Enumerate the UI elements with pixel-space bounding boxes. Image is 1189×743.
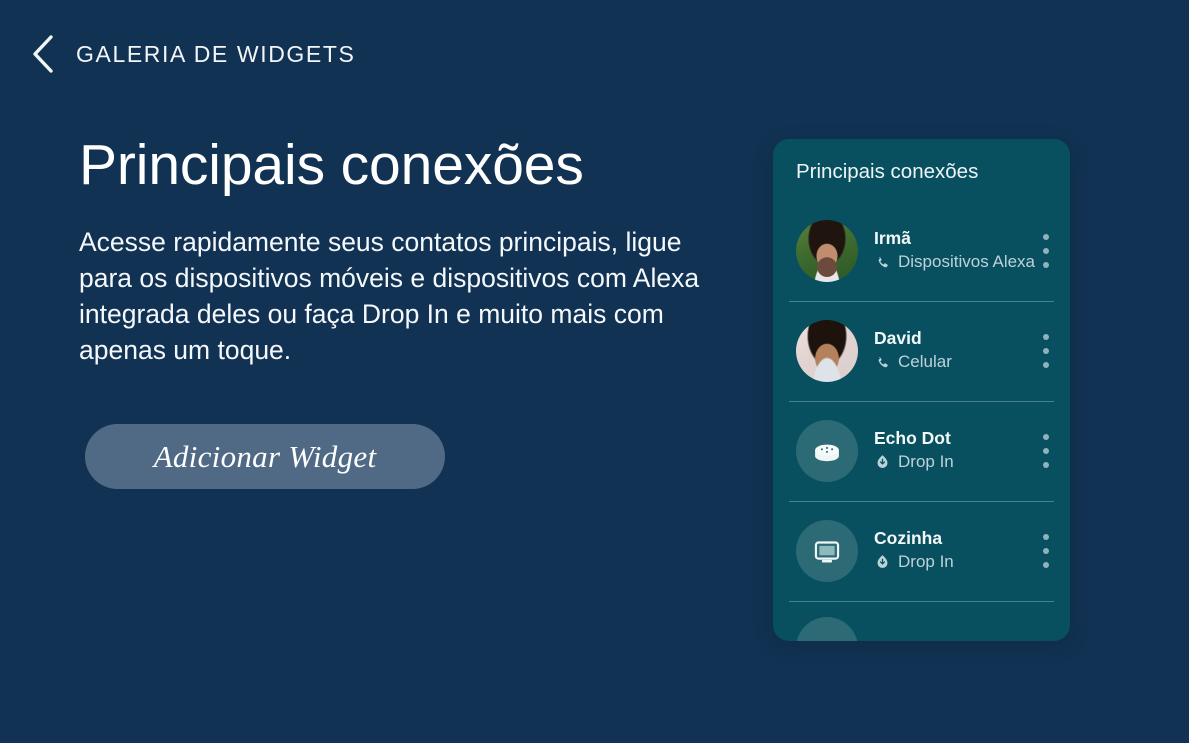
- echo-dot-icon: [796, 420, 858, 482]
- display-device-icon: [796, 520, 858, 582]
- top-bar: GALERIA DE WIDGETS: [0, 0, 1189, 108]
- contact-list: Irmã Dispositivos Alexa D: [773, 201, 1070, 641]
- list-item[interactable]: Echo Dot Drop In: [773, 401, 1070, 501]
- contact-name: David: [874, 328, 1036, 350]
- list-item[interactable]: David Celular: [773, 301, 1070, 401]
- intro-content: Principais conexões Acesse rapidamente s…: [79, 136, 739, 368]
- contact-subtitle-label: Celular: [898, 351, 952, 373]
- list-item[interactable]: [773, 601, 1070, 641]
- contact-name: Echo Dot: [874, 428, 1036, 450]
- contact-subtitle: Drop In: [874, 451, 1036, 473]
- drop-in-icon: [874, 452, 891, 472]
- widget-preview-card: Principais conexões Irmã Dispositivos Al…: [773, 139, 1070, 641]
- contact-subtitle: Dispositivos Alexa: [874, 251, 1036, 273]
- drop-in-icon: [874, 552, 891, 572]
- kebab-menu-icon[interactable]: [1036, 327, 1056, 375]
- widget-card-title: Principais conexões: [773, 139, 1070, 185]
- widget-gallery-screen: GALERIA DE WIDGETS Principais conexões A…: [0, 0, 1189, 743]
- kebab-menu-icon[interactable]: [1036, 427, 1056, 475]
- avatar: [796, 320, 858, 382]
- list-item[interactable]: Irmã Dispositivos Alexa: [773, 201, 1070, 301]
- kebab-menu-icon[interactable]: [1036, 227, 1056, 275]
- avatar: [796, 220, 858, 282]
- add-widget-button[interactable]: Adicionar Widget: [85, 424, 445, 489]
- phone-icon: [874, 252, 891, 272]
- page-title: GALERIA DE WIDGETS: [76, 41, 355, 68]
- contact-subtitle: Drop In: [874, 551, 1036, 573]
- chevron-left-icon[interactable]: [28, 32, 58, 76]
- contact-subtitle-label: Drop In: [898, 551, 954, 573]
- headline: Principais conexões: [79, 136, 739, 196]
- contact-subtitle-label: Drop In: [898, 451, 954, 473]
- description-text: Acesse rapidamente seus contatos princip…: [79, 224, 729, 368]
- list-item-text: Echo Dot Drop In: [858, 428, 1036, 474]
- list-item-text: Cozinha Drop In: [858, 528, 1036, 574]
- phone-icon: [874, 352, 891, 372]
- add-widget-button-label: Adicionar Widget: [154, 439, 377, 475]
- avatar: [796, 617, 858, 641]
- kebab-menu-icon[interactable]: [1036, 527, 1056, 575]
- contact-name: Irmã: [874, 228, 1036, 250]
- list-item[interactable]: Cozinha Drop In: [773, 501, 1070, 601]
- list-item-text: Irmã Dispositivos Alexa: [858, 228, 1036, 274]
- contact-subtitle-label: Dispositivos Alexa: [898, 251, 1035, 273]
- contact-subtitle: Celular: [874, 351, 1036, 373]
- contact-name: Cozinha: [874, 528, 1036, 550]
- list-item-text: David Celular: [858, 328, 1036, 374]
